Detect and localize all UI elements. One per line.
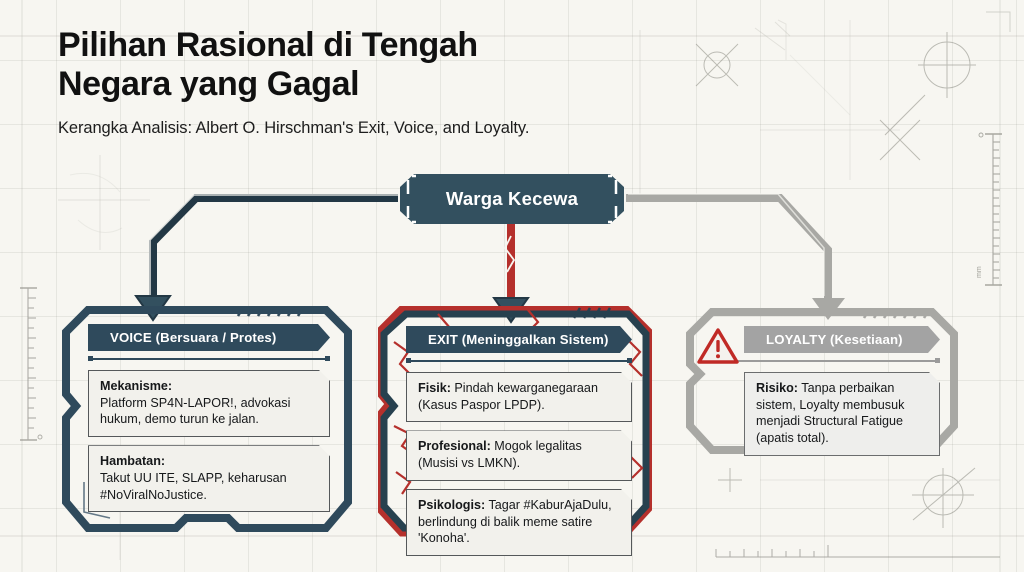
card-mekanisme-label: Mekanisme: bbox=[100, 379, 172, 393]
node-root-label: Warga Kecewa bbox=[400, 174, 624, 224]
card-hambatan-text: Takut UU ITE, SLAPP, keharusan #NoViralN… bbox=[100, 471, 287, 502]
card-fisik-label: Fisik: bbox=[418, 381, 451, 395]
card-psikologis: Psikologis: Tagar #KaburAjaDulu, berlind… bbox=[406, 489, 632, 556]
diagram: Warga Kecewa VOICE (Bersuara / Protes) bbox=[0, 0, 1024, 572]
panel-loyalty-body: LOYALTY (Kesetiaan) Risiko: Tanpa perbai… bbox=[744, 326, 940, 436]
node-warga-kecewa[interactable]: Warga Kecewa bbox=[400, 174, 624, 224]
panel-voice-header: VOICE (Bersuara / Protes) bbox=[88, 324, 330, 351]
connector-to-voice bbox=[136, 195, 398, 320]
panel-voice-divider bbox=[88, 355, 330, 363]
panel-voice[interactable]: VOICE (Bersuara / Protes) Mekanisme: Pla… bbox=[62, 306, 352, 532]
infographic-canvas: mm Pilihan Rasional di Tengah N bbox=[0, 0, 1024, 572]
card-profesional: Profesional: Mogok legalitas (Musisi vs … bbox=[406, 430, 632, 480]
panel-loyalty-header: LOYALTY (Kesetiaan) bbox=[744, 326, 940, 353]
connector-to-loyalty bbox=[626, 194, 845, 320]
card-hambatan: Hambatan: Takut UU ITE, SLAPP, keharusan… bbox=[88, 445, 330, 512]
panel-exit-header: EXIT (Meninggalkan Sistem) bbox=[406, 326, 632, 353]
panel-voice-body: VOICE (Bersuara / Protes) Mekanisme: Pla… bbox=[88, 324, 330, 512]
card-mekanisme-text: Platform SP4N-LAPOR!, advokasi hukum, de… bbox=[100, 396, 290, 427]
panel-exit[interactable]: EXIT (Meninggalkan Sistem) Fisik: Pindah… bbox=[378, 306, 652, 538]
card-psikologis-label: Psikologis: bbox=[418, 498, 485, 512]
card-risiko-label: Risiko: bbox=[756, 381, 798, 395]
card-hambatan-label: Hambatan: bbox=[100, 454, 165, 468]
card-risiko: Risiko: Tanpa perbaikan sistem, Loyalty … bbox=[744, 372, 940, 456]
card-fisik: Fisik: Pindah kewarganegaraan (Kasus Pas… bbox=[406, 372, 632, 422]
card-mekanisme: Mekanisme: Platform SP4N-LAPOR!, advokas… bbox=[88, 370, 330, 437]
warning-triangle-icon bbox=[696, 326, 740, 366]
panel-exit-body: EXIT (Meninggalkan Sistem) Fisik: Pindah… bbox=[406, 326, 632, 520]
card-profesional-label: Profesional: bbox=[418, 439, 491, 453]
panel-exit-divider bbox=[406, 357, 632, 365]
